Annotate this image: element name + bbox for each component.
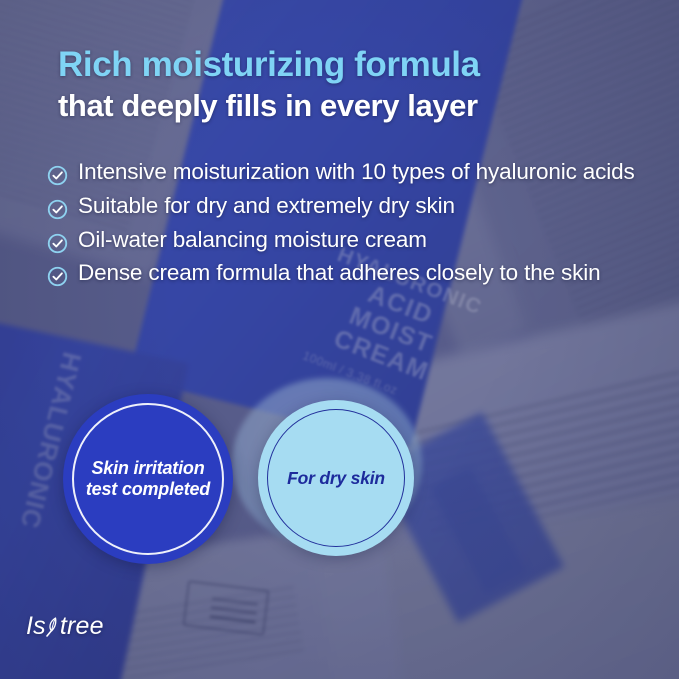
headline-line1: Rich moisturizing formula xyxy=(58,44,638,85)
check-circle-icon xyxy=(47,266,68,287)
leaf-icon xyxy=(44,616,61,638)
badge-label: For dry skin xyxy=(287,468,385,489)
feature-list: Intensive moisturization with 10 types o… xyxy=(47,158,637,293)
list-item: Dense cream formula that adheres closely… xyxy=(47,259,637,288)
list-item: Suitable for dry and extremely dry skin xyxy=(47,192,637,221)
promo-image-canvas: HYALURONIC ACID MOIST CREAM 100ml / 3.38… xyxy=(0,0,679,679)
list-item-label: Intensive moisturization with 10 types o… xyxy=(78,158,635,187)
check-circle-icon xyxy=(47,165,68,186)
check-circle-icon xyxy=(47,199,68,220)
headline-line2: that deeply fills in every layer xyxy=(58,87,638,125)
foreground-content: Rich moisturizing formula that deeply fi… xyxy=(0,0,679,679)
list-item-label: Dense cream formula that adheres closely… xyxy=(78,259,600,288)
headline: Rich moisturizing formula that deeply fi… xyxy=(58,44,638,125)
brand-logo-text-part2: tree xyxy=(60,612,104,641)
status-badge-skin-irritation: Skin irritationtest completed xyxy=(63,394,233,564)
list-item: Intensive moisturization with 10 types o… xyxy=(47,158,637,187)
badge-label: Skin irritationtest completed xyxy=(86,458,210,500)
list-item-label: Suitable for dry and extremely dry skin xyxy=(78,192,455,221)
brand-logo: Is tree xyxy=(26,612,104,641)
list-item: Oil-water balancing moisture cream xyxy=(47,226,637,255)
check-circle-icon xyxy=(47,233,68,254)
status-badge-for-dry-skin: For dry skin xyxy=(258,400,414,556)
list-item-label: Oil-water balancing moisture cream xyxy=(78,226,427,255)
